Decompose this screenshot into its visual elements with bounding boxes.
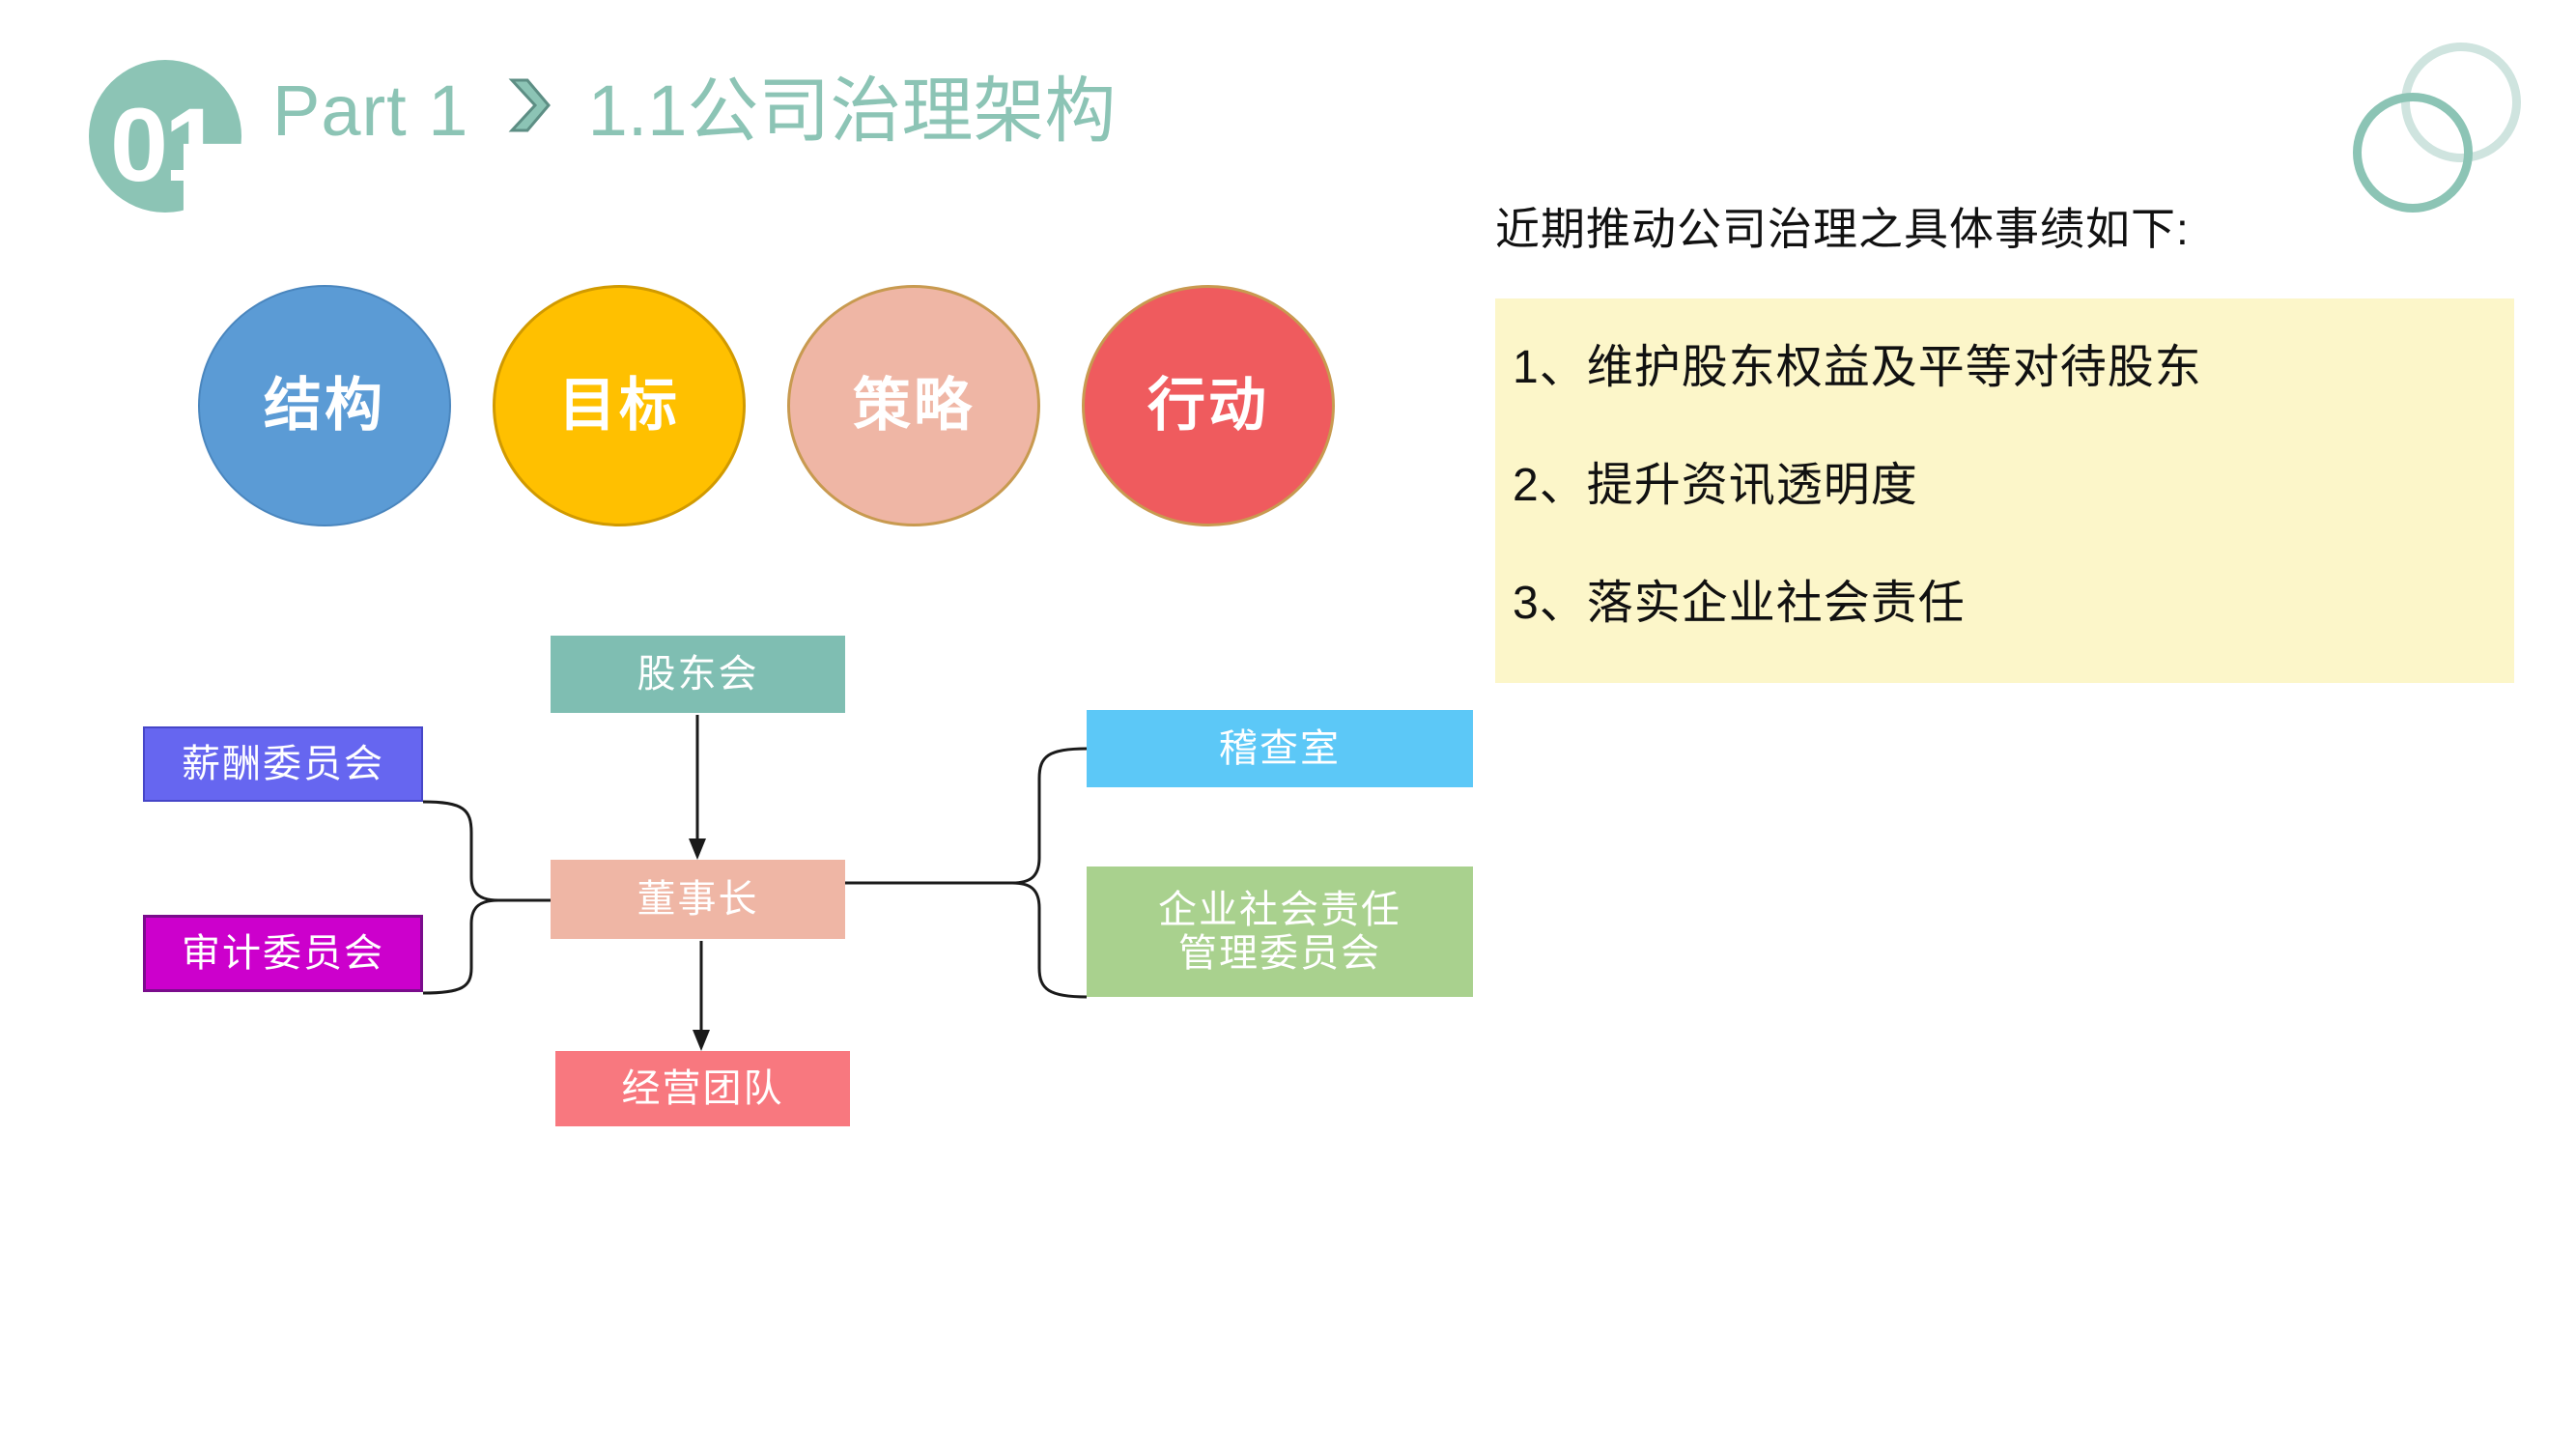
concept-circle-label: 结构 [264,377,385,435]
chevron-right-icon [506,77,551,133]
org-node-compensation-committee[interactable]: 薪酬委员会 [143,726,423,802]
achievement-item: 1、维护股东权益及平等对待股东 [1495,339,2514,397]
achievements-list-box: 1、维护股东权益及平等对待股东 2、提升资讯透明度 3、落实企业社会责任 [1495,298,2514,683]
org-node-label: 薪酬委员会 [182,743,384,786]
org-node-management-team[interactable]: 经营团队 [555,1051,850,1126]
achievement-item: 2、提升资讯透明度 [1495,457,2514,515]
org-node-label-wrapper: 企业社会责任 管理委员会 [1158,889,1401,976]
section-subtitle: 1.1公司治理架构 [588,71,1117,151]
concept-circle-label: 行动 [1147,377,1269,435]
ring-dark-icon [2353,93,2473,213]
concept-circle-strategy[interactable]: 策略 [787,285,1040,526]
section-number-badge: 01 [89,60,241,213]
achievements-panel: 近期推动公司治理之具体事绩如下: 1、维护股东权益及平等对待股东 2、提升资讯透… [1495,203,2514,683]
org-node-chairman[interactable]: 董事长 [551,860,845,939]
org-node-label-line1: 企业社会责任 [1158,889,1401,931]
concept-circle-action[interactable]: 行动 [1082,285,1335,526]
org-node-label: 经营团队 [622,1067,784,1111]
achievement-item: 3、落实企业社会责任 [1495,575,2514,633]
concept-circle-label: 目标 [558,377,680,435]
org-node-label: 审计委员会 [182,932,384,976]
org-node-label: 稽查室 [1219,727,1341,771]
org-node-shareholders[interactable]: 股东会 [551,636,845,713]
org-node-label-line2: 管理委员会 [1178,932,1381,975]
org-chart: 股东会 董事长 经营团队 薪酬委员会 审计委员会 稽查室 企业社会责任 管理委员… [116,618,1391,1130]
org-node-label: 董事长 [637,878,759,922]
concept-circle-label: 策略 [853,377,975,435]
concept-circle-goal[interactable]: 目标 [493,285,746,526]
concept-circle-row: 结构 目标 策略 行动 [198,285,1338,526]
part-label: Part 1 [272,71,468,151]
achievements-heading: 近期推动公司治理之具体事绩如下: [1495,203,2514,256]
page-title: Part 1 1.1公司治理架构 [272,75,1116,147]
org-node-csr-committee[interactable]: 企业社会责任 管理委员会 [1087,867,1473,997]
org-node-audit-committee[interactable]: 审计委员会 [143,915,423,992]
concept-circle-structure[interactable]: 结构 [198,285,451,526]
org-node-inspection-office[interactable]: 稽查室 [1087,710,1473,787]
badge-number: 01 [110,93,218,197]
org-node-label: 股东会 [637,653,759,696]
